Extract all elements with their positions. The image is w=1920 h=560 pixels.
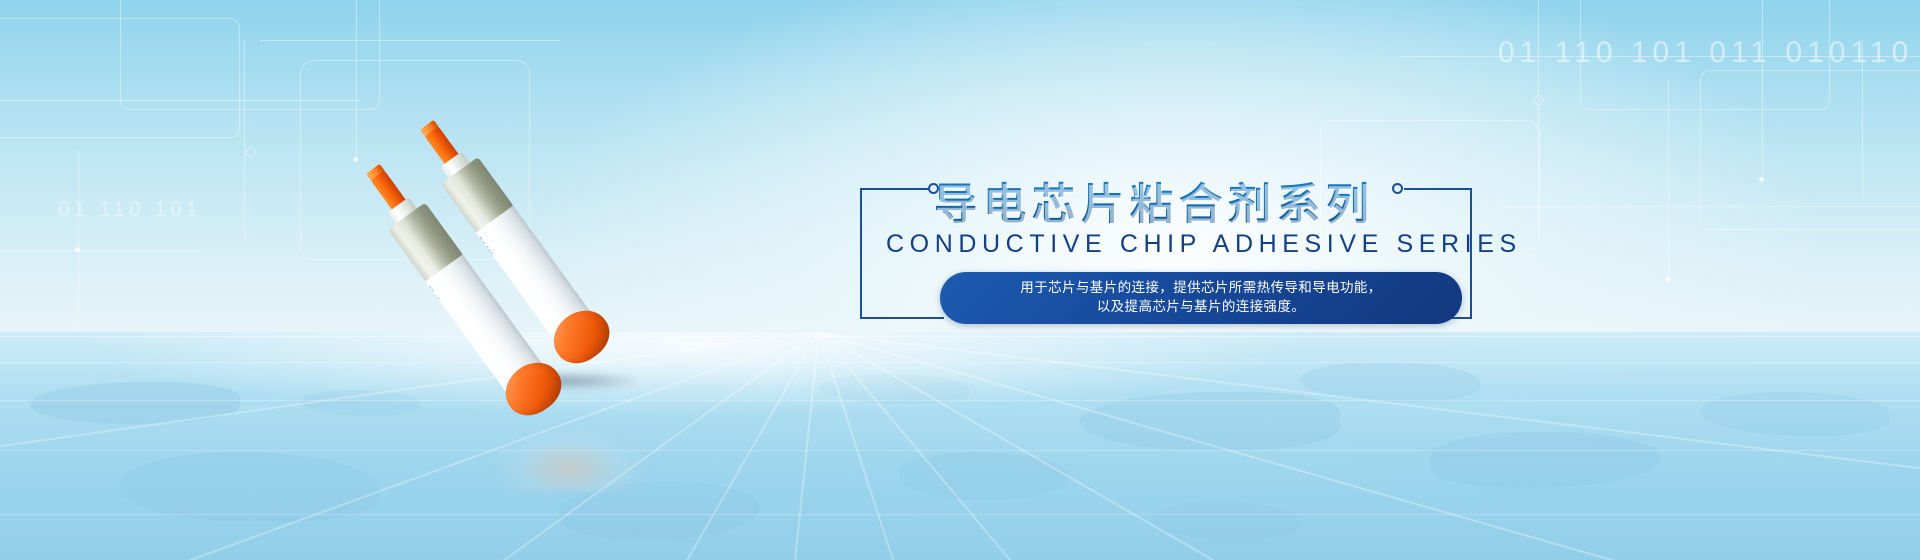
product-banner: 01 110 101 011 010110 101 01 110 101 010… [0, 0, 1920, 560]
product-image: DA 500 10 ml [330, 110, 660, 400]
bracket-node-right-icon [1392, 183, 1403, 194]
page-title: 导电芯片粘合剂系列 [934, 170, 1375, 232]
title-block: 导电芯片粘合剂系列 导电芯片粘合剂系列 CONDUCTIVE CHIP ADHE… [880, 178, 1520, 358]
description-line-1: 用于芯片与基片的连接，提供芯片所需热传导和导电功能， [1020, 279, 1381, 298]
binary-text-top-right: 01 110 101 011 010110 101 [1498, 36, 1920, 70]
description-line-2: 以及提高芯片与基片的连接强度。 [1097, 298, 1306, 317]
binary-text-mid-left: 01 110 101 [58, 198, 202, 222]
page-subtitle: CONDUCTIVE CHIP ADHESIVE SERIES [886, 230, 1522, 259]
description-box: 用于芯片与基片的连接，提供芯片所需热传导和导电功能， 以及提高芯片与基片的连接强… [940, 272, 1462, 324]
perspective-floor [0, 332, 1920, 560]
